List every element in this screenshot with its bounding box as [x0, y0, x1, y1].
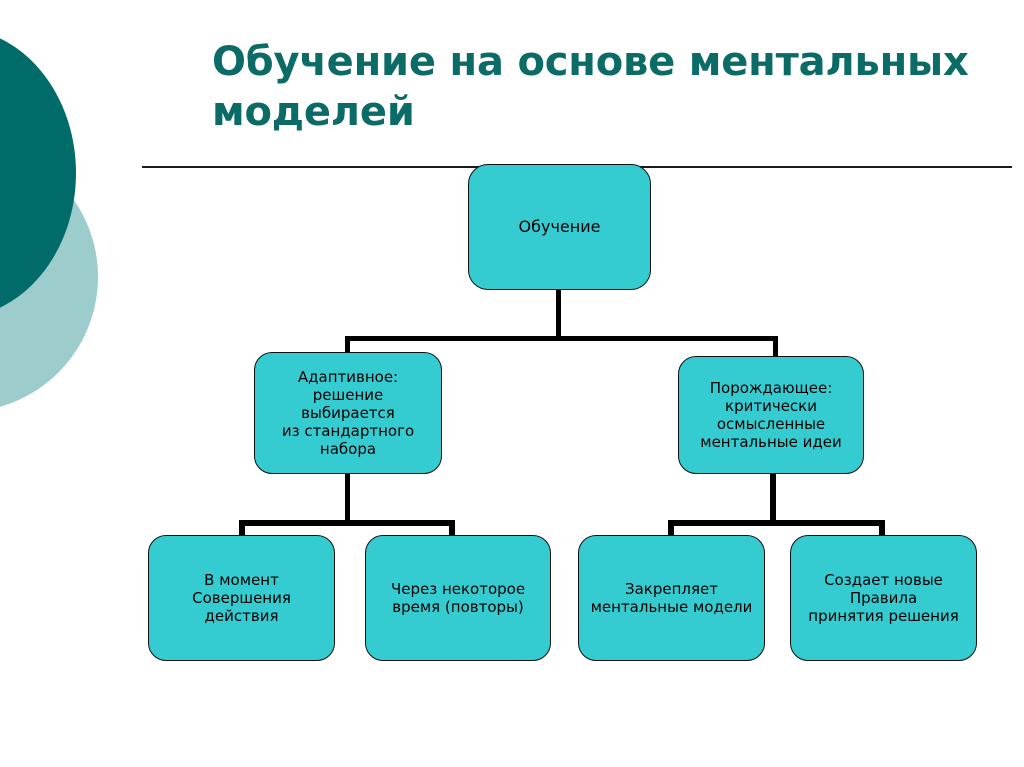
connector-generative-stem [770, 474, 776, 524]
connector-right-bar [668, 520, 885, 526]
node-newrules-label: Создает новые Правила принятия решения [791, 571, 976, 625]
slide-canvas: Обучение на основе ментальных моделей Об… [0, 0, 1024, 767]
node-reinforces-models[interactable]: Закрепляет ментальные модели [578, 535, 765, 661]
connector-left-bar [239, 520, 455, 526]
node-root[interactable]: Обучение [468, 164, 651, 290]
node-adaptive-label: Адаптивное: решение выбирается из станда… [255, 368, 441, 458]
node-root-label: Обучение [519, 217, 601, 236]
decorative-circle-light [0, 142, 98, 412]
node-delayed-repetition[interactable]: Через некоторое время (повторы) [365, 535, 551, 661]
node-creates-new-rules[interactable]: Создает новые Правила принятия решения [790, 535, 977, 661]
slide-title: Обучение на основе ментальных моделей [212, 38, 972, 137]
node-delayed-label: Через некоторое время (повторы) [366, 580, 550, 616]
node-moment-of-action[interactable]: В момент Совершения действия [148, 535, 335, 661]
connector-root-stem [556, 290, 561, 340]
node-moment-label: В момент Совершения действия [192, 571, 291, 625]
node-generative[interactable]: Порождающее: критически осмысленные мент… [678, 356, 864, 474]
node-generative-label: Порождающее: критически осмысленные мент… [679, 379, 863, 451]
connector-level2-bar [345, 336, 778, 341]
decorative-circle-dark [0, 28, 76, 318]
connector-adaptive-stem [345, 474, 350, 524]
node-adaptive[interactable]: Адаптивное: решение выбирается из станда… [254, 352, 442, 474]
node-reinforce-label: Закрепляет ментальные модели [579, 580, 764, 616]
